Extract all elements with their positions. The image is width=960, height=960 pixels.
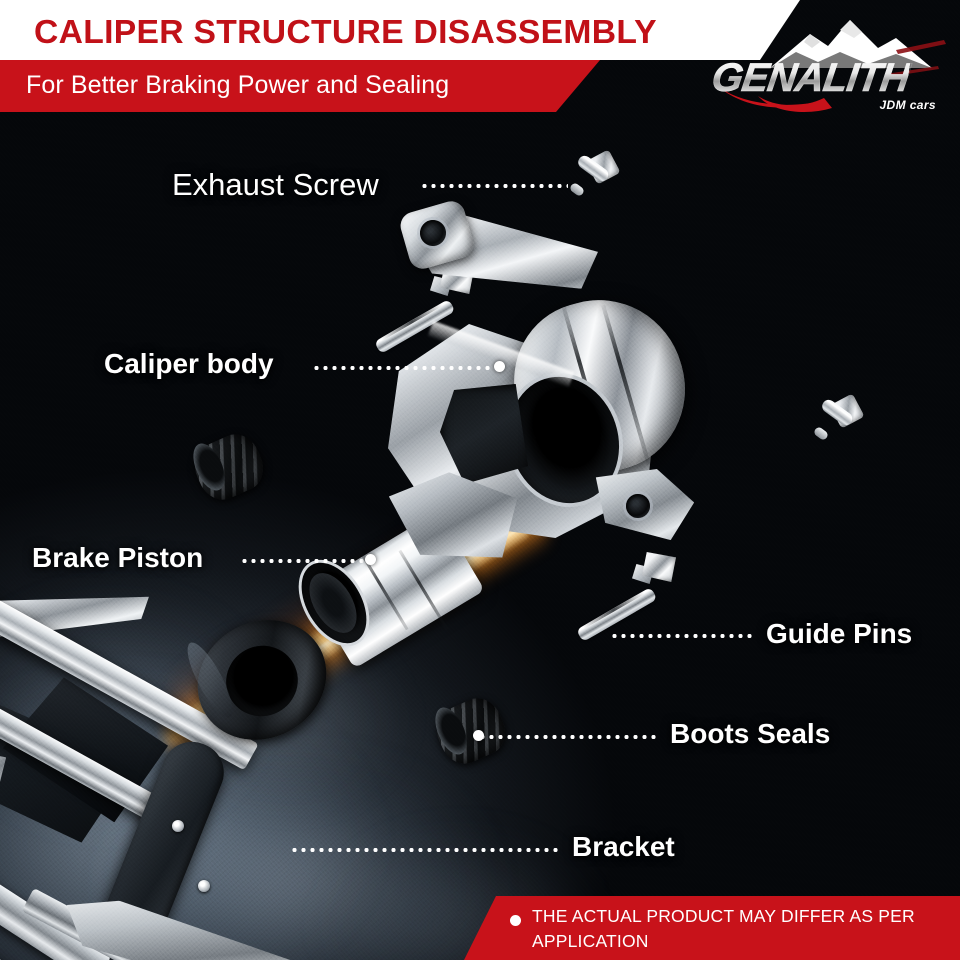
callout-label-boots-seals: Boots Seals <box>670 718 830 750</box>
callout-label-exhaust-screw: Exhaust Screw <box>172 167 379 203</box>
leader-line-caliper-body <box>312 366 498 370</box>
leader-line-guide-pins <box>610 634 752 638</box>
leader-line-brake-piston <box>240 559 368 563</box>
leader-dot-brake-piston <box>365 554 376 565</box>
leader-dot-caliper-body <box>494 361 505 372</box>
callout-label-guide-pins: Guide Pins <box>766 618 912 650</box>
caliper-body-part <box>378 196 778 596</box>
infographic-canvas: Exhaust Screw Caliper body Brake Piston … <box>0 0 960 960</box>
brand-logo: GENALITH JDM cars <box>700 12 950 120</box>
brand-tagline: JDM cars <box>879 98 936 112</box>
page-title: CALIPER STRUCTURE DISASSEMBLY <box>34 13 657 51</box>
callout-label-caliper-body: Caliper body <box>104 348 274 380</box>
leader-dot-boots-seals <box>473 730 484 741</box>
callout-label-bracket: Bracket <box>572 831 675 863</box>
leader-line-boots-seals <box>478 735 660 739</box>
page-subtitle: For Better Braking Power and Sealing <box>26 71 449 100</box>
brand-wordmark: GENALITH <box>709 56 912 101</box>
bracket-rivet <box>172 820 184 832</box>
callout-label-brake-piston: Brake Piston <box>32 542 203 574</box>
disclaimer-text: THE ACTUAL PRODUCT MAY DIFFER AS PER APP… <box>532 904 944 954</box>
screw-tip <box>813 426 830 442</box>
bracket-bottom-lug <box>56 889 313 960</box>
bracket-rivet <box>198 880 210 892</box>
boot-seal-upper <box>192 430 268 506</box>
guide-pin-upper-right <box>812 396 870 456</box>
leader-line-bracket <box>290 848 558 852</box>
leader-line-exhaust-screw <box>420 184 568 188</box>
caliper-tab-hole <box>626 494 650 518</box>
bullet-dot-icon <box>510 915 521 926</box>
screw-tip <box>569 182 586 198</box>
boot-seal-lower <box>434 694 510 770</box>
